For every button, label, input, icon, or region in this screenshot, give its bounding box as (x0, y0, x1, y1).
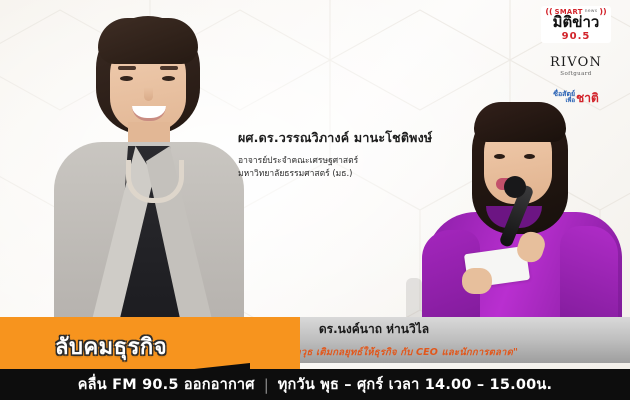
guest-role-line-2: มหาวิทยาลัยธรรมศาสตร์ (มธ.) (238, 168, 488, 181)
guest-photo (48, 10, 248, 330)
rivon-tagline: Softguard (528, 71, 624, 77)
microphone-head-icon (504, 176, 526, 198)
campaign-line-2: เพื่อ (565, 98, 575, 104)
station-frequency: 90.5 (545, 31, 606, 42)
host-name: ดร.นงค์นาถ ห่านวิไล (319, 320, 429, 339)
smart-paren-right: )) (599, 7, 606, 16)
campaign-line-3: ชาติ (576, 92, 599, 104)
program-title: ลับคมธุรกิจ (55, 329, 167, 364)
campaign-logo: ซื่อสัตย์ เพื่อ ชาติ (528, 91, 624, 104)
smart-news-logo: (( SMART news )) มิติข่าว 90.5 (541, 6, 610, 43)
guest-role-line-1: อาจารย์ประจำคณะเศรษฐศาสตร์ (238, 155, 488, 168)
smart-paren-left: (( (545, 7, 552, 16)
broadcast-promo-graphic: ผศ.ดร.วรรณวิภางค์ มานะโชติพงษ์ อาจารย์ปร… (0, 0, 630, 400)
guest-caption: ผศ.ดร.วรรณวิภางค์ มานะโชติพงษ์ อาจารย์ปร… (238, 128, 488, 181)
broadcast-separator: | (264, 376, 269, 394)
guest-name: ผศ.ดร.วรรณวิภางค์ มานะโชติพงษ์ (238, 128, 488, 148)
broadcast-schedule: ทุกวัน พุธ – ศุกร์ เวลา 14.00 – 15.00น. (278, 373, 552, 396)
logo-stack: (( SMART news )) มิติข่าว 90.5 RIVON Sof… (528, 6, 624, 104)
station-program-name: มิติข่าว (545, 15, 606, 31)
rivon-logo: RIVON Softguard (528, 55, 624, 77)
rivon-wordmark: RIVON (528, 55, 624, 70)
broadcast-channel: คลื่น FM 90.5 ออกอากาศ (78, 373, 255, 396)
